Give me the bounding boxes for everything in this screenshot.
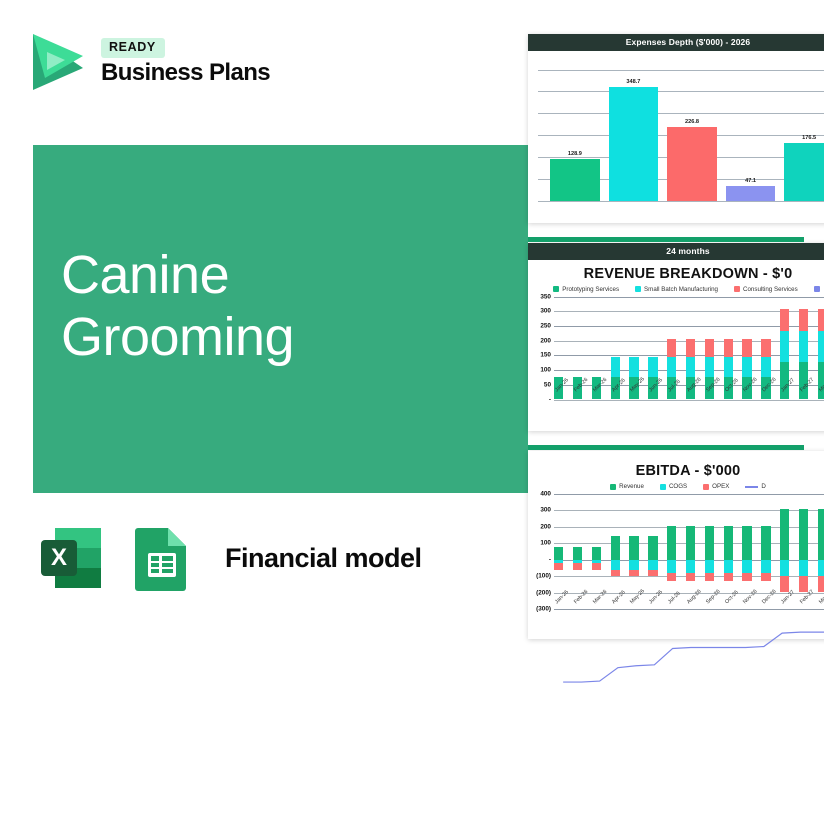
bar-segment xyxy=(705,339,714,357)
bar-segment xyxy=(667,357,676,377)
legend-swatch xyxy=(610,484,616,490)
svg-text:X: X xyxy=(51,544,67,571)
revenue-legend: Prototyping ServicesSmall Batch Manufact… xyxy=(528,284,824,293)
legend-item: Revenue xyxy=(610,483,644,490)
bar-value-label: 128.9 xyxy=(550,151,600,157)
play-triangle-logo-icon xyxy=(25,28,87,96)
trend-line xyxy=(554,494,824,830)
ebitda-chart-title: EBITDA - $'000 xyxy=(528,451,824,481)
legend-item xyxy=(814,286,823,293)
legend-swatch xyxy=(734,286,740,292)
bar-segment xyxy=(742,339,751,357)
legend-item: D xyxy=(745,483,765,490)
bar-segment xyxy=(686,357,695,377)
financial-model-label: Financial model xyxy=(225,543,422,574)
bar-column: 128.9 xyxy=(550,159,600,201)
legend-swatch xyxy=(703,484,709,490)
ready-badge: READY xyxy=(101,38,165,58)
bar-segment xyxy=(780,331,789,362)
revenue-chart-title: REVENUE BREAKDOWN - $'0 xyxy=(528,260,824,284)
legend-label: COGS xyxy=(669,483,687,490)
title-panel: Canine Grooming xyxy=(33,145,528,493)
bar-segment xyxy=(799,331,808,362)
y-tick-label: (100) xyxy=(536,573,551,580)
bar-column: 176.5 xyxy=(784,143,824,201)
y-tick-label: (200) xyxy=(536,589,551,596)
y-tick-label: 50 xyxy=(544,381,551,388)
bar-segment xyxy=(705,357,714,377)
revenue-x-axis-labels: Jan-26Feb-26Mar-26Apr-26May-26Jun-26Jul-… xyxy=(554,389,824,395)
bar-segment xyxy=(724,339,733,357)
y-axis: 400300200100-(100)(200)(300) xyxy=(528,494,554,609)
y-tick-label: - xyxy=(549,556,551,563)
bar-column: 226.8 xyxy=(667,127,717,201)
y-tick-label: 100 xyxy=(540,540,551,547)
y-tick-label: - xyxy=(549,396,551,403)
bar-segment xyxy=(742,357,751,377)
legend-item: Consulting Services xyxy=(734,286,798,293)
bar xyxy=(726,186,776,201)
bar-segment xyxy=(667,339,676,357)
ebitda-legend: RevenueCOGSOPEXD xyxy=(528,481,824,490)
legend-swatch xyxy=(553,286,559,292)
bar-segment xyxy=(611,357,620,377)
page-title: Canine Grooming xyxy=(61,245,294,368)
y-tick-label: 350 xyxy=(540,293,551,300)
legend-label: D xyxy=(761,483,765,490)
bar-value-label: 176.5 xyxy=(784,135,824,141)
bar xyxy=(550,159,600,201)
y-axis: 35030025020015010050- xyxy=(528,297,554,400)
revenue-accent-strip xyxy=(528,237,804,242)
bar-segment xyxy=(818,309,824,331)
legend-label: Revenue xyxy=(619,483,644,490)
bar-segment xyxy=(648,357,657,377)
chart-card-revenue[interactable]: 24 months REVENUE BREAKDOWN - $'0 Protot… xyxy=(528,243,824,431)
bar-value-label: 226.8 xyxy=(667,119,717,125)
brand-name: Business Plans xyxy=(101,60,270,86)
ebitda-accent-strip xyxy=(528,445,804,450)
bar-value-label: 47.1 xyxy=(726,178,776,184)
expenses-plot-area: 128.9348.7226.847.1176.5 xyxy=(538,51,824,201)
bar xyxy=(667,127,717,201)
bar-segment xyxy=(629,357,638,377)
legend-label: Small Batch Manufacturing xyxy=(644,286,718,293)
revenue-chart-header: 24 months xyxy=(528,243,824,260)
plot-area xyxy=(554,494,824,609)
legend-label: OPEX xyxy=(712,483,729,490)
y-tick-label: 400 xyxy=(540,491,551,498)
financial-model-row: X Financial model xyxy=(33,520,422,596)
chart-card-ebitda[interactable]: EBITDA - $'000 RevenueCOGSOPEXD 40030020… xyxy=(528,451,824,639)
legend-item: Small Batch Manufacturing xyxy=(635,286,718,293)
google-sheets-icon xyxy=(124,520,200,596)
legend-item: Prototyping Services xyxy=(553,286,619,293)
legend-item: OPEX xyxy=(703,483,729,490)
brand-logo: READY Business Plans xyxy=(25,28,270,96)
y-tick-label: 200 xyxy=(540,337,551,344)
bar-segment xyxy=(799,309,808,331)
y-tick-label: 300 xyxy=(540,308,551,315)
microsoft-excel-icon: X xyxy=(33,520,109,596)
bar-segment xyxy=(724,357,733,377)
y-tick-label: 200 xyxy=(540,523,551,530)
ebitda-x-axis-labels: Jan-26Feb-26Mar-26Apr-26May-26Jun-26Jul-… xyxy=(554,601,824,607)
y-tick-label: 100 xyxy=(540,367,551,374)
y-tick-label: 250 xyxy=(540,322,551,329)
expenses-bars: 128.9348.7226.847.1176.5 xyxy=(550,70,824,201)
legend-item: COGS xyxy=(660,483,687,490)
bar xyxy=(784,143,824,201)
bar-column: 348.7 xyxy=(609,87,659,201)
bar xyxy=(609,87,659,201)
bar-value-label: 348.7 xyxy=(609,79,659,85)
legend-swatch xyxy=(745,486,758,488)
legend-label: Consulting Services xyxy=(743,286,798,293)
y-tick-label: 150 xyxy=(540,352,551,359)
bar-segment xyxy=(818,331,824,362)
legend-swatch xyxy=(814,286,820,292)
bar-segment xyxy=(686,339,695,357)
legend-swatch xyxy=(660,484,666,490)
y-tick-label: (300) xyxy=(536,606,551,613)
bar-segment xyxy=(780,309,789,331)
gridline xyxy=(554,400,824,401)
legend-swatch xyxy=(635,286,641,292)
y-tick-label: 300 xyxy=(540,507,551,514)
chart-card-expenses[interactable]: Expenses Depth ($'000) - 2026 128.9348.7… xyxy=(528,34,824,223)
gridline xyxy=(538,201,824,202)
bar-segment xyxy=(761,357,770,377)
expenses-chart-header: Expenses Depth ($'000) - 2026 xyxy=(528,34,824,51)
legend-label: Prototyping Services xyxy=(562,286,619,293)
bar-segment xyxy=(761,339,770,357)
bar-column: 47.1 xyxy=(726,186,776,201)
